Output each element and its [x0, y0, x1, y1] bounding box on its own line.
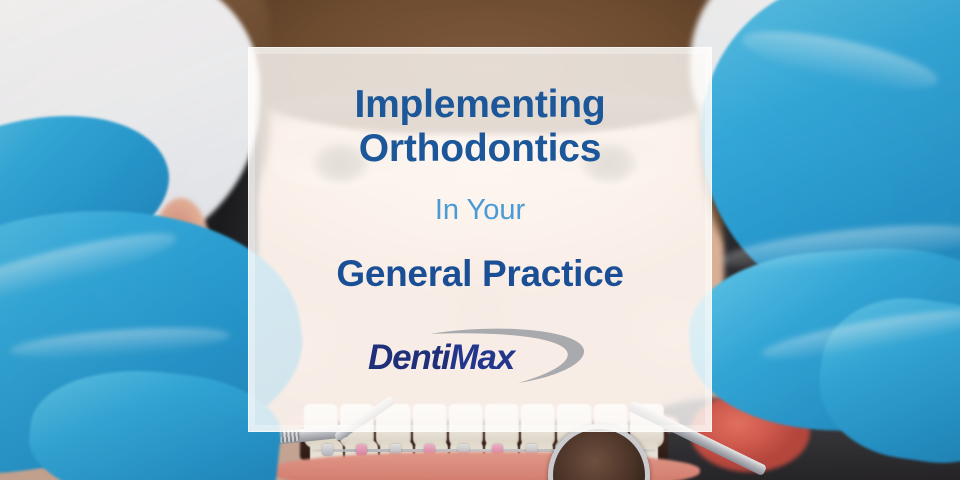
logo-word-max: Max	[450, 338, 515, 377]
dentimax-logo: DentiMax	[368, 326, 592, 388]
headline-main-line: General Practice	[336, 255, 623, 292]
text-overlay-panel: Implementing Orthodontics In Your Genera…	[248, 47, 712, 432]
headline-subline: In Your	[435, 196, 525, 225]
braces-bracket	[322, 444, 333, 456]
logo-wordmark: DentiMax	[368, 338, 558, 378]
headline-line-1: Implementing	[354, 83, 605, 127]
logo-word-denti: Denti	[368, 338, 450, 377]
marketing-banner: Implementing Orthodontics In Your Genera…	[0, 0, 960, 480]
headline-line-2: Orthodontics	[359, 127, 601, 171]
